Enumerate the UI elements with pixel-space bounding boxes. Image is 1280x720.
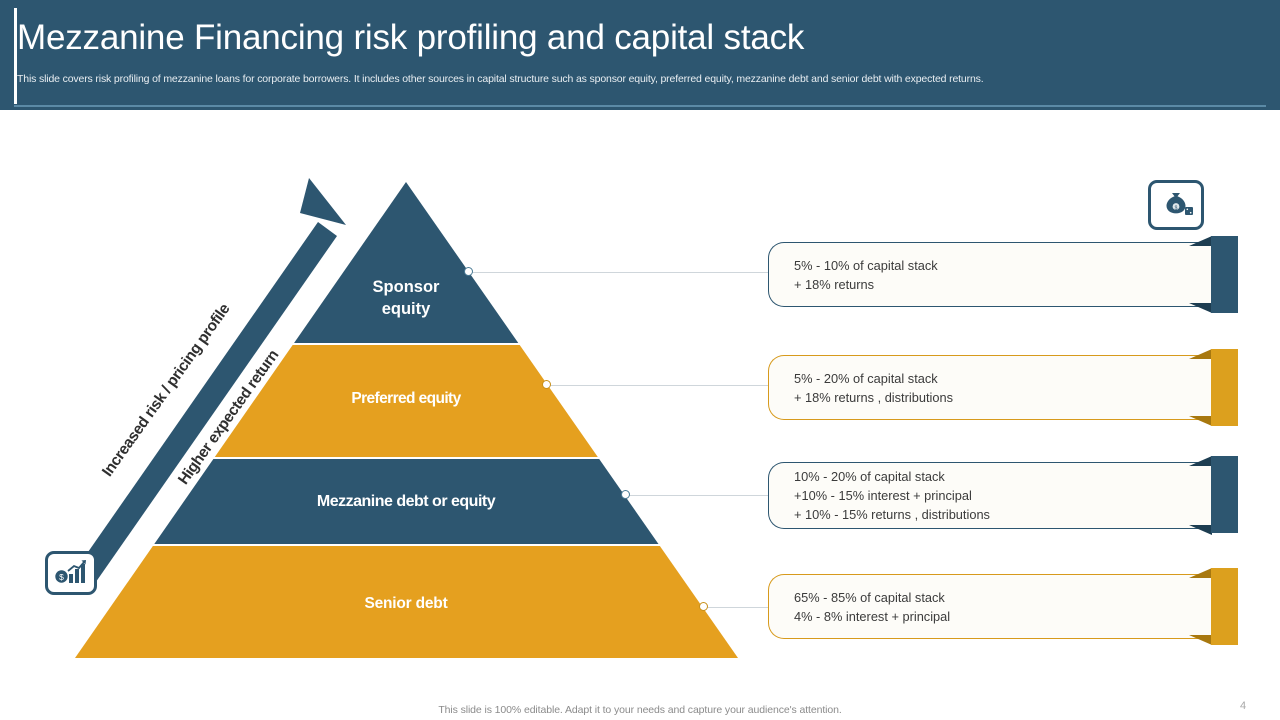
connector-dot-4 xyxy=(699,602,708,611)
callout-tab xyxy=(1211,456,1238,533)
callout-text: 65% - 85% of capital stack 4% - 8% inter… xyxy=(794,574,1204,639)
money-bag-icon: $ xyxy=(1148,180,1204,230)
callout-tab xyxy=(1211,568,1238,645)
callout-tab xyxy=(1211,236,1238,313)
connector-line-4 xyxy=(706,607,770,608)
pyramid-tier-4-shape xyxy=(60,546,760,666)
connector-line-2 xyxy=(548,385,770,386)
svg-text:$: $ xyxy=(1175,205,1178,211)
connector-line-1 xyxy=(470,272,770,273)
page-number: 4 xyxy=(1240,700,1246,712)
slide-canvas: Mezzanine Financing risk profiling and c… xyxy=(0,0,1280,720)
footer-note: This slide is 100% editable. Adapt it to… xyxy=(0,704,1280,716)
connector-dot-3 xyxy=(621,490,630,499)
connector-dot-1 xyxy=(464,267,473,276)
callout-text: 10% - 20% of capital stack +10% - 15% in… xyxy=(794,462,1204,529)
pyramid-tier-1-shape xyxy=(60,175,760,343)
svg-text:$: $ xyxy=(59,572,64,582)
connector-line-3 xyxy=(628,495,770,496)
pyramid-svg xyxy=(0,0,780,700)
capital-stack-pyramid: Sponsor equity Preferred equity Mezzanin… xyxy=(0,0,780,700)
growth-chart-icon: $ xyxy=(45,551,97,595)
callout-text: 5% - 20% of capital stack + 18% returns … xyxy=(794,355,1204,420)
connector-dot-2 xyxy=(542,380,551,389)
callout-text: 5% - 10% of capital stack + 18% returns xyxy=(794,242,1204,307)
callout-tab xyxy=(1211,349,1238,426)
